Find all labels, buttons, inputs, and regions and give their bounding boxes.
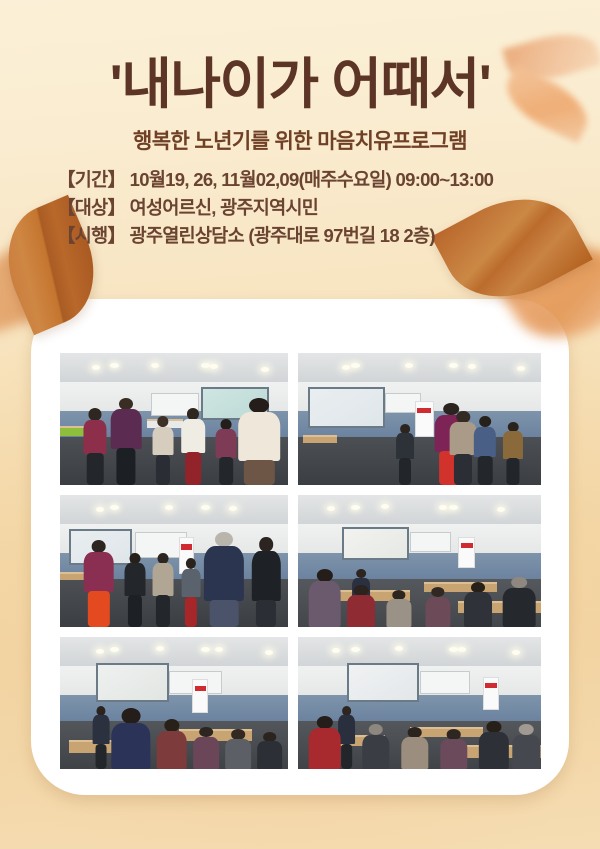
poster-page: '내나이가 어때서' 행복한 노년기를 위한 마음치유프로그램 【기간】 10월…	[0, 0, 600, 849]
gallery-photo[interactable]: 마스크를 쓴 참가자들이 강의실에서 걷기 활동을 하는 모습	[60, 495, 288, 627]
gallery-photo[interactable]: 강사가 스크린을 가리키며 설명하고 참가자들이 경청하는 모습	[298, 637, 541, 769]
poster-header: '내나이가 어때서' 행복한 노년기를 위한 마음치유프로그램	[0, 0, 600, 155]
gallery-photo[interactable]: 참가자들이 강의실에서 손을 들고 체조하는 모습	[60, 353, 288, 485]
info-line-audience: 【대상】 여성어르신, 광주지역시민	[57, 194, 600, 222]
page-subtitle: 행복한 노년기를 위한 마음치유프로그램	[0, 125, 600, 155]
info-line-period: 【기간】 10월19, 26, 11월02,09(매주수요일) 09:00~13…	[57, 166, 600, 194]
gallery-photo[interactable]: 강사가 스크린 앞에서 안내하고 참가자들이 줄지어 서 있는 모습	[298, 353, 541, 485]
gallery-photo[interactable]: '웰다잉' 화면을 띄운 강의를 참가자들이 듣는 모습	[60, 637, 288, 769]
gallery-photo[interactable]: 강사가 발표하고 참가자들이 책상에 앉아 수강하는 모습	[298, 495, 541, 627]
photo-card: 참가자들이 강의실에서 손을 들고 체조하는 모습	[31, 299, 569, 795]
info-line-host: 【시행】 광주열린상담소 (광주대로 97번길 18 2층)	[57, 222, 600, 250]
page-title: '내나이가 어때서'	[0, 8, 600, 116]
info-block: 【기간】 10월19, 26, 11월02,09(매주수요일) 09:00~13…	[0, 166, 600, 250]
photo-grid: 참가자들이 강의실에서 손을 들고 체조하는 모습	[60, 353, 541, 769]
